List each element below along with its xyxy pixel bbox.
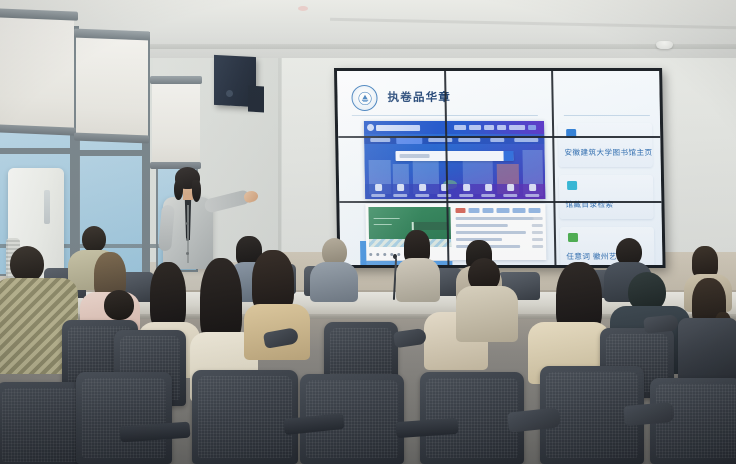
window-transom-2: [78, 150, 144, 156]
audience-torso: [396, 258, 440, 302]
video-wall-screen[interactable]: 执卷品华章: [337, 71, 662, 265]
site-quick-icon-label: [525, 194, 539, 197]
window-transom-1: [0, 148, 72, 154]
roller-blind-right[interactable]: [152, 82, 200, 168]
catalog-tab-active[interactable]: [455, 208, 465, 213]
site-quick-icon-label: [437, 194, 451, 197]
site-quick-icon[interactable]: [375, 184, 382, 191]
presenter-hair-side-left: [174, 180, 183, 200]
site-menu-item[interactable]: [490, 138, 504, 142]
video-wall-bezel-horizontal: [339, 201, 661, 203]
slide-card-label-1: 安徽建筑大学图书馆主页: [564, 147, 652, 158]
catalog-result-date: [532, 245, 543, 247]
chair-backrest[interactable]: [678, 318, 736, 386]
slide-divider-right: [564, 115, 650, 116]
microphone-head-icon: [393, 254, 397, 259]
site-search-icon[interactable]: [503, 151, 513, 161]
chair-mesh: [426, 378, 518, 458]
site-quick-icon-label: [371, 194, 385, 197]
site-menu-item[interactable]: [370, 138, 390, 142]
site-nav-item[interactable]: [454, 125, 466, 130]
air-conditioner-vent-icon: [44, 190, 50, 224]
wall-speaker-driver-icon: [226, 90, 233, 97]
catalog-result-date: [532, 231, 543, 233]
site-quick-icon-label: [393, 194, 407, 197]
toolbar-dot-icon[interactable]: [369, 253, 372, 256]
bar-chart-icon: [568, 233, 578, 242]
site-nav-item[interactable]: [528, 125, 536, 130]
presentation-slide: 执卷品华章: [337, 71, 662, 265]
site-nav-item[interactable]: [509, 125, 525, 130]
toolbar-dot-icon[interactable]: [376, 253, 379, 256]
roller-blind-left[interactable]: [0, 14, 74, 133]
site-quick-icon-label: [503, 194, 517, 197]
catalog-tab[interactable]: [496, 208, 509, 213]
presenter-coat-button: [186, 222, 189, 225]
catalog-result-row[interactable]: [456, 231, 526, 233]
catalog-cover-line: [374, 224, 392, 225]
toolbar-dot-icon[interactable]: [397, 253, 400, 256]
video-wall-bezel-horizontal: [338, 136, 660, 138]
site-quick-icon[interactable]: [397, 184, 404, 191]
library-homepage-screenshot[interactable]: [364, 121, 545, 199]
lecture-hall-photo: 执卷品华章: [0, 0, 736, 464]
chair-mesh: [82, 378, 166, 458]
site-search-placeholder: [400, 154, 430, 158]
catalog-tab[interactable]: [512, 208, 525, 213]
catalog-result-date: [532, 238, 543, 240]
site-quick-icon[interactable]: [419, 184, 426, 191]
wall-speaker-bracket: [248, 85, 264, 112]
site-nav-item[interactable]: [469, 125, 481, 130]
catalog-result-row[interactable]: [456, 217, 534, 219]
site-menu-item[interactable]: [458, 138, 480, 142]
catalog-cover-line: [374, 218, 400, 219]
site-quick-icon[interactable]: [529, 184, 536, 191]
roller-blind-center[interactable]: [76, 35, 148, 142]
slide-title: 执卷品华章: [387, 89, 451, 105]
audience-head: [104, 290, 134, 320]
catalog-tab[interactable]: [468, 208, 479, 213]
video-wall-display[interactable]: 执卷品华章: [334, 68, 666, 268]
presenter-coat-button: [186, 252, 189, 255]
presenter-coat-button: [186, 238, 189, 241]
catalog-results-screenshot[interactable]: [365, 204, 546, 260]
site-quick-icons-row: [365, 184, 545, 199]
site-nav-item[interactable]: [497, 125, 506, 130]
site-menu-item[interactable]: [428, 138, 452, 142]
library-site-logo-icon: [367, 124, 374, 131]
site-nav-item[interactable]: [484, 125, 494, 130]
chair-mesh: [198, 376, 292, 458]
library-site-brand: [376, 124, 420, 130]
audience-head: [82, 226, 106, 252]
toolbar-dot-icon[interactable]: [383, 253, 386, 256]
site-quick-icon[interactable]: [463, 184, 470, 191]
site-quick-icon[interactable]: [485, 184, 492, 191]
site-menu-item[interactable]: [514, 138, 538, 142]
site-quick-icon-label: [415, 194, 429, 197]
ceiling-sensor-icon: [298, 6, 308, 11]
roller-blind-right-headrail: [150, 76, 202, 84]
chair-mesh: [2, 388, 82, 462]
catalog-tab[interactable]: [482, 208, 493, 213]
catalog-tab-row: [455, 208, 541, 213]
site-quick-icon[interactable]: [507, 184, 514, 191]
catalog-result-date: [532, 224, 543, 226]
catalog-result-date: [532, 217, 543, 219]
presenter-hair-side-right: [192, 180, 201, 202]
audience-torso: [456, 286, 518, 342]
audience-torso: [310, 262, 358, 302]
catalog-result-row[interactable]: [456, 224, 508, 226]
catalog-tab[interactable]: [528, 208, 540, 213]
document-icon: [567, 181, 577, 190]
smoke-detector-icon: [656, 41, 673, 49]
site-quick-icon-label: [481, 194, 495, 197]
university-emblem-icon: [351, 85, 377, 111]
catalog-cover-title-block: [412, 222, 448, 230]
audience-head: [10, 246, 44, 282]
site-quick-icon-label: [459, 194, 473, 197]
